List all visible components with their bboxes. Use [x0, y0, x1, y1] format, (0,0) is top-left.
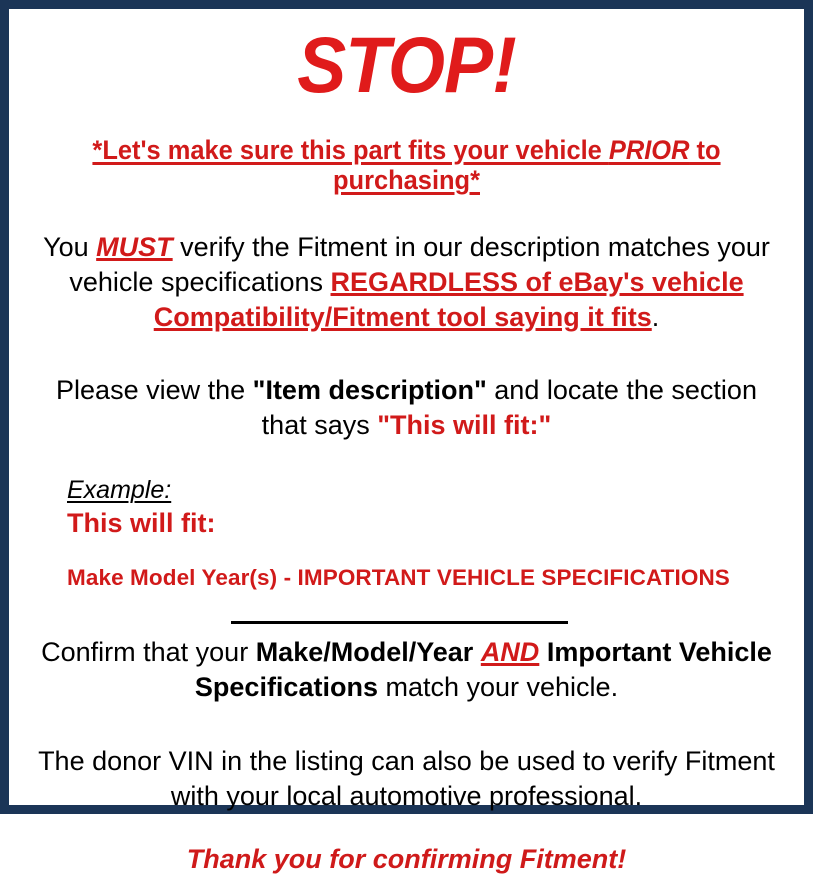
- emphasis-item-description: "Item description": [253, 375, 487, 405]
- subheadline-emphasis-prior: PRIOR: [609, 135, 690, 165]
- view-text-lead: Please view the: [56, 375, 253, 405]
- subheadline: *Let's make sure this part fits your veh…: [35, 135, 779, 196]
- subheadline-text-before: *Let's make sure this part fits your veh…: [92, 135, 608, 165]
- example-vehicle-specifications: Make Model Year(s) - IMPORTANT VEHICLE S…: [67, 564, 794, 591]
- confirm-space-1: [473, 637, 481, 667]
- fitment-notice-card: STOP! *Let's make sure this part fits yo…: [0, 0, 813, 814]
- example-this-will-fit: This will fit:: [67, 508, 794, 539]
- donor-vin-paragraph: The donor VIN in the listing can also be…: [19, 744, 794, 814]
- example-block: Example: This will fit: Make Model Year(…: [19, 477, 794, 591]
- example-label: Example:: [67, 477, 794, 505]
- must-verify-paragraph: You MUST verify the Fitment in our descr…: [19, 230, 794, 335]
- divider-line: [231, 621, 568, 624]
- confirm-space-2: [539, 637, 547, 667]
- confirm-text-tail: match your vehicle.: [378, 672, 618, 702]
- emphasis-this-will-fit: "This will fit:": [377, 410, 551, 440]
- stop-headline: STOP!: [46, 25, 767, 104]
- must-text-lead: You: [43, 232, 96, 262]
- must-text-tail: .: [652, 302, 660, 332]
- emphasis-and: AND: [481, 637, 540, 667]
- emphasis-make-model-year: Make/Model/Year: [256, 637, 474, 667]
- notice-content: STOP! *Let's make sure this part fits yo…: [9, 9, 804, 805]
- thank-you-line: Thank you for confirming Fitment!: [19, 843, 794, 875]
- confirm-paragraph: Confirm that your Make/Model/Year AND Im…: [19, 635, 794, 705]
- emphasis-must: MUST: [96, 232, 173, 262]
- item-description-paragraph: Please view the "Item description" and l…: [19, 373, 794, 443]
- confirm-text-lead: Confirm that your: [41, 637, 256, 667]
